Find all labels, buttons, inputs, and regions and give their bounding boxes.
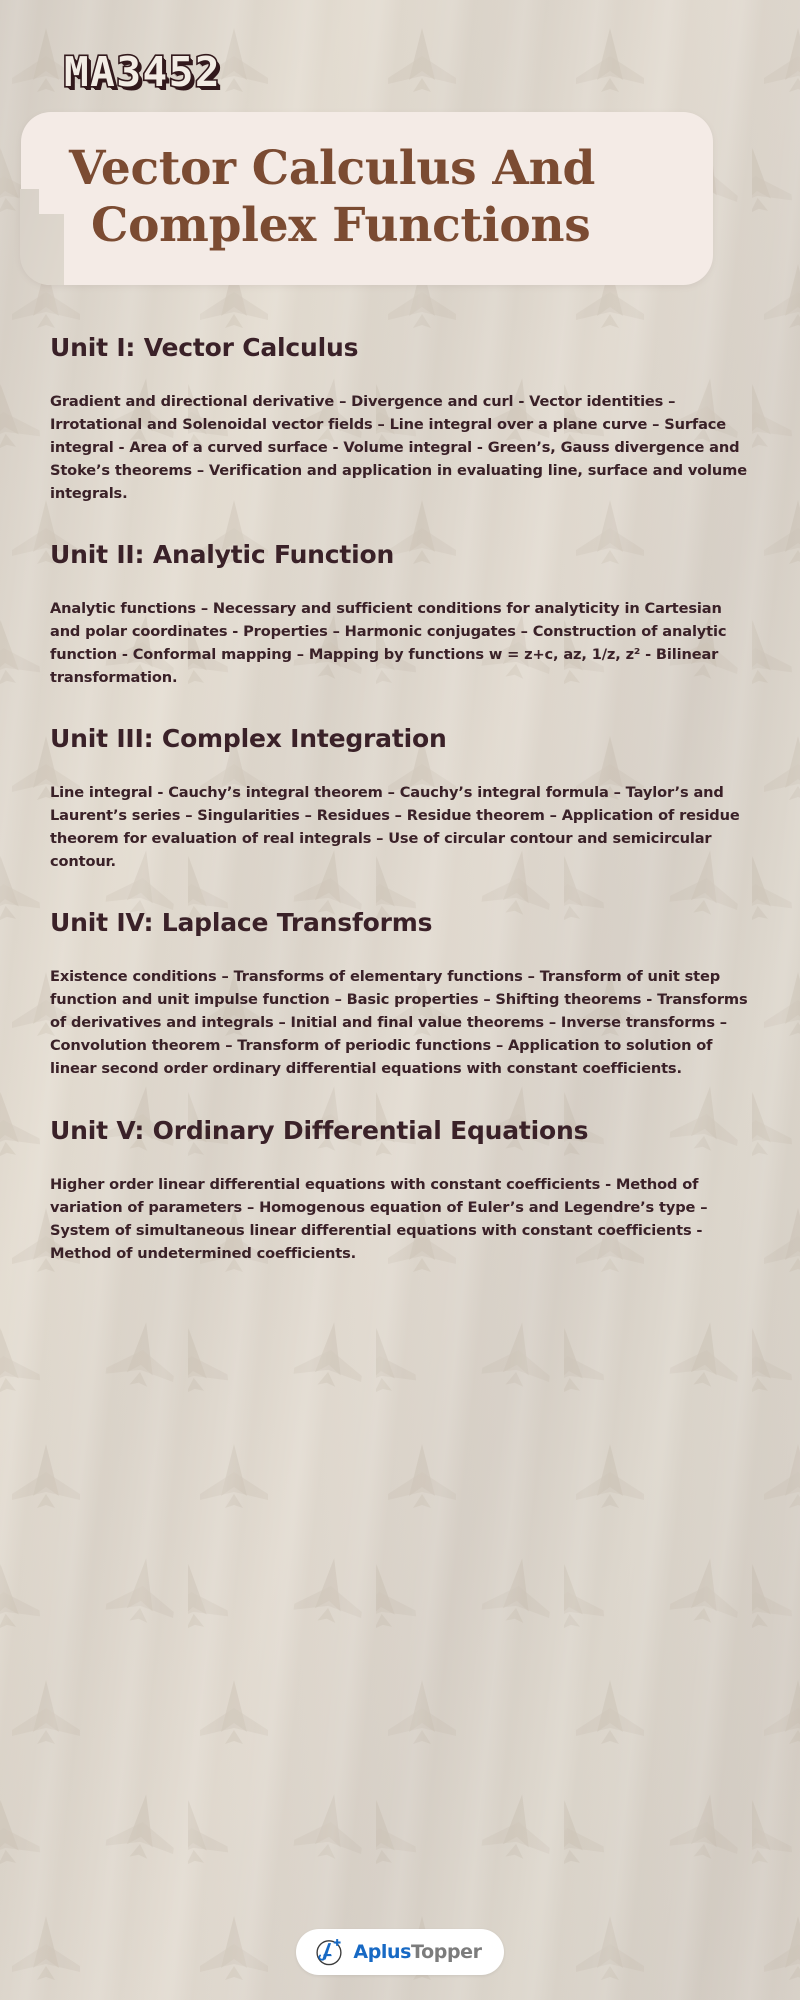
unit-body: Line integral - Cauchy’s integral theore… <box>50 781 750 873</box>
aplus-circle-logo-icon <box>312 1935 346 1969</box>
unit-heading: Unit V: Ordinary Differential Equations <box>50 1115 750 1147</box>
logo-wordmark: AplusTopper <box>353 1941 481 1963</box>
unit-body: Higher order linear differential equatio… <box>50 1173 750 1265</box>
unit-body: Analytic functions – Necessary and suffi… <box>50 597 750 689</box>
unit-section-4: Unit IV: Laplace Transforms Existence co… <box>50 907 750 1080</box>
logo-brand-primary: Aplus <box>353 1941 411 1963</box>
footer: AplusTopper <box>0 1929 800 1975</box>
aplustopper-logo[interactable]: AplusTopper <box>296 1929 503 1975</box>
unit-heading: Unit I: Vector Calculus <box>50 332 750 364</box>
page-title-line-2: Complex Functions <box>69 197 679 254</box>
unit-body: Gradient and directional derivative – Di… <box>50 390 750 505</box>
page-title: Vector Calculus And Complex Functions <box>61 140 679 255</box>
unit-heading: Unit IV: Laplace Transforms <box>50 907 750 939</box>
unit-section-3: Unit III: Complex Integration Line integ… <box>50 723 750 873</box>
title-card-notch <box>20 189 64 285</box>
unit-body: Existence conditions – Transforms of ele… <box>50 965 750 1080</box>
unit-heading: Unit III: Complex Integration <box>50 723 750 755</box>
course-code-row: MA3452 <box>50 0 750 112</box>
course-code: MA3452 <box>64 48 221 96</box>
page-title-line-1: Vector Calculus And <box>69 141 595 196</box>
logo-brand-secondary: Topper <box>411 1941 482 1963</box>
unit-heading: Unit II: Analytic Function <box>50 539 750 571</box>
infographic-page: MA3452 Vector Calculus And Complex Funct… <box>0 0 800 2000</box>
course-title-card: Vector Calculus And Complex Functions <box>21 112 713 285</box>
unit-section-1: Unit I: Vector Calculus Gradient and dir… <box>50 332 750 505</box>
unit-section-5: Unit V: Ordinary Differential Equations … <box>50 1115 750 1265</box>
units-list: Unit I: Vector Calculus Gradient and dir… <box>50 285 750 1265</box>
unit-section-2: Unit II: Analytic Function Analytic func… <box>50 539 750 689</box>
